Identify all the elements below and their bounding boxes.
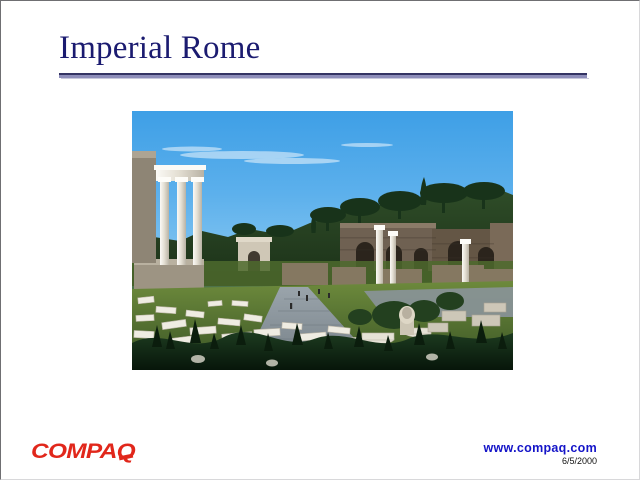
page-title: Imperial Rome	[59, 29, 599, 67]
slide-date: 6/5/2000	[484, 456, 597, 467]
rule-shadow-line	[61, 78, 589, 79]
compaq-url-link[interactable]: www.compaq.com	[484, 441, 597, 455]
compaq-logo: COMPAQ	[31, 439, 141, 465]
title-divider-rule	[59, 73, 587, 78]
roman-forum-illustration	[132, 111, 513, 370]
roman-forum-photo	[132, 111, 513, 370]
compaq-wordmark-icon: COMPAQ	[31, 439, 141, 465]
presentation-slide: Imperial Rome	[0, 0, 640, 480]
slide-title-block: Imperial Rome	[59, 29, 599, 67]
footer-url-block: www.compaq.com 6/5/2000	[484, 441, 597, 467]
